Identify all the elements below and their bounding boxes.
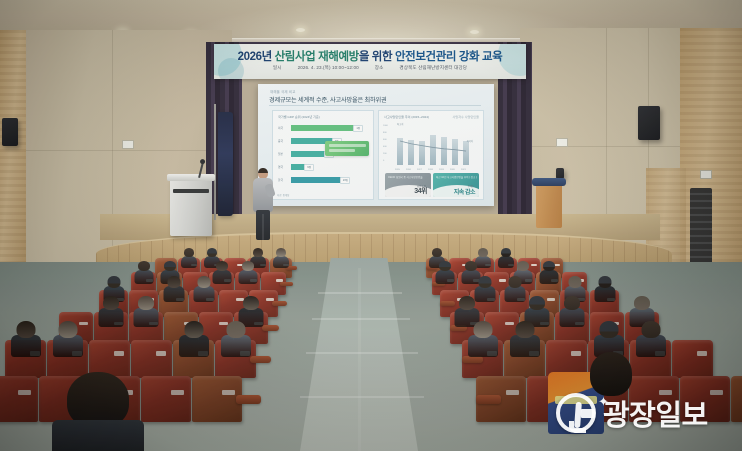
audience-member	[11, 321, 41, 357]
audience-member	[181, 248, 197, 267]
bar-label: 영국	[278, 165, 283, 169]
banner-title-seg-tail: 안전보건관리 강화 교육	[395, 51, 502, 63]
seat-number-tag	[571, 351, 582, 356]
audience-head	[138, 261, 150, 271]
wood-panel-left	[0, 30, 26, 270]
bar-value: 1위	[353, 125, 363, 132]
audience-member-foreground	[52, 372, 144, 451]
seat-number-tag	[697, 351, 708, 356]
slide-stat-box-rank-value: 34위	[414, 186, 427, 196]
auditorium-seat[interactable]	[192, 376, 242, 422]
seat-number-tag	[506, 390, 519, 396]
annotation-start: 최고치	[397, 122, 403, 126]
audience-member	[588, 352, 634, 406]
slide-chart-left-note: 자료: 통계청	[277, 193, 289, 197]
audience-shoulders	[181, 256, 197, 268]
bar-label: 중국	[278, 139, 283, 143]
y-tick: 600	[383, 139, 387, 141]
seat-number-tag	[156, 351, 167, 356]
slide-callout-green	[325, 141, 369, 156]
seat-armrest	[272, 301, 287, 306]
lectern-panel	[173, 189, 209, 193]
audience-shoulders	[193, 286, 214, 302]
audience-head	[517, 261, 529, 271]
banner-place-label: 장소	[375, 65, 384, 70]
audience-head	[58, 321, 77, 338]
audience-head	[16, 321, 35, 338]
x-tick: 2019	[439, 169, 444, 171]
slide-rule	[269, 105, 481, 106]
auditorium-photo: 2026년 산림사업 재해예방을 위한 안전보건관리 강화 교육 일시2026.…	[0, 0, 742, 451]
audience-shoulders	[435, 270, 454, 284]
aisle-step	[300, 396, 424, 398]
seat-armrest	[440, 301, 455, 306]
slide-stat-box-rank-caption: OECD 회원국 중 사고사망만인율	[388, 176, 429, 180]
bar-row: 영국6위	[291, 164, 365, 170]
audience-head	[216, 261, 228, 271]
audience-head	[465, 261, 477, 271]
slide-chart-right: 사고사망만인율 추이 (2015~2024) 사망자수 사망만인율 201520…	[378, 110, 484, 200]
audience-member	[221, 321, 251, 357]
audience-head	[508, 276, 521, 288]
audience-head-with-cap	[207, 248, 217, 257]
seat-number-tag	[171, 390, 184, 396]
presenter-legs	[256, 210, 270, 240]
side-podium-top	[532, 178, 566, 186]
audience-head	[459, 296, 475, 310]
legend-bars: 사망자수	[453, 115, 464, 119]
audience-member	[99, 296, 124, 326]
audience-head-with-cap	[543, 261, 555, 271]
audience-head-with-cap	[598, 276, 611, 288]
banner-place-value: 경상북도 산림재난방지센터 대강당	[399, 65, 467, 70]
bar-value: 13위	[340, 177, 350, 184]
lectern	[170, 178, 212, 236]
audience-member	[134, 261, 153, 283]
wall-speaker-right	[638, 106, 660, 140]
audience-head	[564, 296, 580, 310]
audience-member	[435, 261, 454, 283]
y-tick: 800	[383, 132, 387, 134]
combo-line-series	[389, 123, 475, 171]
audience-shoulders	[468, 335, 498, 357]
wall-speaker-left	[2, 118, 18, 146]
seat-armrest	[250, 356, 271, 363]
y-tick: 0	[383, 160, 384, 162]
seat-number-tag	[18, 390, 31, 396]
slide-eyebrow: 재해율 국제 비교	[270, 89, 296, 94]
auditorium-seat[interactable]	[680, 376, 730, 422]
audience-member	[134, 296, 159, 326]
audience-head-with-cap	[164, 261, 176, 271]
auditorium-seat[interactable]	[141, 376, 191, 422]
audience-head	[641, 321, 660, 338]
auditorium-seat[interactable]	[672, 340, 713, 378]
aisle-step	[312, 318, 410, 320]
wall-plate-right	[556, 138, 568, 147]
event-banner: 2026년 산림사업 재해예방을 위한 안전보건관리 강화 교육 일시2026.…	[214, 44, 526, 79]
slide-stat-box-trend-value: 지속 감소	[454, 187, 475, 196]
audience-head	[138, 296, 154, 310]
bar	[291, 177, 344, 183]
audience-shoulders	[560, 308, 585, 327]
slide-chart-left: 국가별 GDP 순위 (2024년 기준) 미국1위중국2위일본4위영국6위한국…	[272, 110, 374, 200]
audience-shoulders	[221, 335, 251, 357]
korean-flag	[218, 112, 233, 216]
audience-head	[515, 321, 534, 338]
audience-head	[242, 261, 254, 271]
audience-head-with-cap	[599, 321, 618, 338]
slide-chart-left-caption: 국가별 GDP 순위 (2024년 기준)	[278, 114, 320, 119]
audience-head	[167, 276, 180, 288]
audience-member	[510, 321, 540, 357]
seat-number-tag	[531, 264, 537, 266]
seat-number-tag	[114, 351, 125, 356]
audience-member	[238, 261, 257, 283]
banner-subtitle: 일시2026. 4. 23.(목) 10:00~12:00장소경상북도 산림재난…	[214, 65, 526, 71]
audience-shoulders	[510, 335, 540, 357]
bar	[291, 151, 328, 157]
bar-label: 미국	[278, 126, 283, 130]
audience-member	[468, 321, 498, 357]
auditorium-seat[interactable]	[731, 376, 742, 422]
audience-member	[212, 261, 231, 283]
seat-number-tag	[710, 390, 723, 396]
side-podium	[536, 184, 562, 228]
audience-shoulders	[53, 335, 83, 357]
wall-plate-left	[122, 140, 134, 149]
audience-shoulders	[11, 335, 41, 357]
audience-shoulders	[52, 420, 144, 451]
audience-head-with-cap	[107, 276, 120, 288]
aisle-step	[306, 352, 418, 354]
auditorium-seat[interactable]	[0, 376, 38, 422]
downlight-icon	[470, 30, 479, 34]
seat-armrest	[236, 395, 261, 403]
x-tick: 2015	[395, 169, 400, 171]
audience-member	[163, 276, 184, 302]
bar-value: 6위	[304, 164, 314, 171]
seat-armrest	[280, 282, 293, 286]
banner-title-seg-mid: 을 위한	[359, 51, 395, 63]
audience-head	[432, 248, 442, 257]
audience-member	[539, 261, 558, 283]
x-tick: 2020	[450, 169, 455, 171]
wall-switch-right[interactable]	[700, 170, 712, 179]
audience-member	[560, 296, 585, 326]
audience-shoulders	[212, 270, 231, 284]
audience-shoulders	[504, 286, 525, 302]
seat-armrest	[476, 395, 501, 403]
audience-member	[273, 248, 289, 267]
x-tick: 2018	[428, 169, 433, 171]
audience-head	[634, 296, 650, 310]
audience-shoulders	[99, 308, 124, 327]
audience-head-with-cap	[501, 248, 511, 257]
presenter	[252, 168, 274, 240]
audience-member	[594, 276, 615, 302]
audience-head	[103, 296, 119, 310]
x-tick: 2017	[417, 169, 422, 171]
lectern-top	[167, 174, 215, 181]
audience-shoulders	[636, 335, 666, 357]
bar-label: 일본	[278, 152, 283, 156]
audience-shoulders	[163, 286, 184, 302]
bar	[291, 125, 357, 131]
audience-member	[636, 321, 666, 357]
audience-head	[590, 352, 632, 396]
audience-member	[504, 276, 525, 302]
audience-member	[498, 248, 514, 267]
audience-shoulders	[498, 256, 514, 268]
y-tick: 200	[383, 153, 387, 155]
slide-headline: 경제규모는 세계적 수준, 사고사망율은 최하위권	[269, 95, 386, 104]
audience-head	[243, 296, 259, 310]
audience-head	[473, 321, 492, 338]
flag-pole	[214, 104, 216, 220]
audience-head-with-cap	[439, 261, 451, 271]
audience-shoulders	[539, 270, 558, 284]
audience-shoulders	[179, 335, 209, 357]
audience-shoulders	[238, 270, 257, 284]
audience-shoulders	[134, 308, 159, 327]
audience-head	[276, 248, 286, 257]
x-tick: 2021	[461, 169, 466, 171]
audience-head	[226, 321, 245, 338]
bar-row: 미국1위	[291, 125, 365, 131]
legend-line: 사망만인율	[465, 115, 479, 119]
audience-shoulders	[273, 256, 289, 268]
slide-stat-box-trend-caption: 최근 10년 사고사망만인율 추이 ( 감소 )	[436, 176, 477, 180]
y-tick: 400	[383, 146, 387, 148]
banner-date-value: 2026. 4. 23.(목) 10:00~12:00	[298, 65, 359, 70]
combo-chart: 2015201620172018201920202021 10008006004…	[389, 123, 475, 171]
bar-row: 한국13위	[291, 177, 365, 183]
slide-stat-box-rank: OECD 회원국 중 사고사망만인율 회원국 중 34위	[385, 173, 431, 197]
audience-head	[568, 276, 581, 288]
banner-title-seg-year: 2026년	[238, 51, 275, 63]
bar-label: 한국	[278, 178, 283, 182]
wall-seam	[0, 150, 232, 151]
projection-screen: 재해율 국제 비교 경제규모는 세계적 수준, 사고사망율은 최하위권 국가별 …	[258, 84, 494, 206]
door-louver-right[interactable]	[690, 188, 712, 270]
audience-head	[184, 321, 203, 338]
audience-head-with-cap	[478, 276, 491, 288]
audience-head-with-cap	[529, 296, 545, 310]
banner-title: 2026년 산림사업 재해예방을 위한 안전보건관리 강화 교육	[214, 48, 526, 64]
seat-armrest	[262, 325, 279, 331]
audience-head	[197, 276, 210, 288]
audience-shoulders	[134, 270, 153, 284]
y-tick: 1000	[383, 125, 388, 127]
seat-number-tag	[222, 390, 235, 396]
audience-member	[53, 321, 83, 357]
audience-member	[179, 321, 209, 357]
banner-title-seg-topic: 산림사업 재해예방	[275, 51, 359, 63]
seat-number-tag	[659, 390, 672, 396]
audience-head	[184, 248, 194, 257]
slide-chart-right-legend: 사망자수 사망만인율	[453, 114, 480, 119]
banner-date-label: 일시	[273, 65, 282, 70]
auditorium-seat[interactable]	[629, 376, 679, 422]
downlight-icon	[296, 28, 305, 32]
aisle-centerline	[358, 268, 361, 451]
annotation-end: 최저치	[467, 139, 473, 143]
audience-head	[478, 248, 488, 257]
audience-head	[253, 248, 263, 257]
x-tick: 2016	[406, 169, 411, 171]
slide-stat-box-trend: 최근 10년 사고사망만인율 추이 ( 감소 ) 추세는 지속 감소	[433, 173, 479, 197]
audience-shoulders	[594, 286, 615, 302]
audience-member	[193, 276, 214, 302]
slide-chart-right-caption: 사고사망만인율 추이 (2015~2024)	[384, 114, 429, 119]
